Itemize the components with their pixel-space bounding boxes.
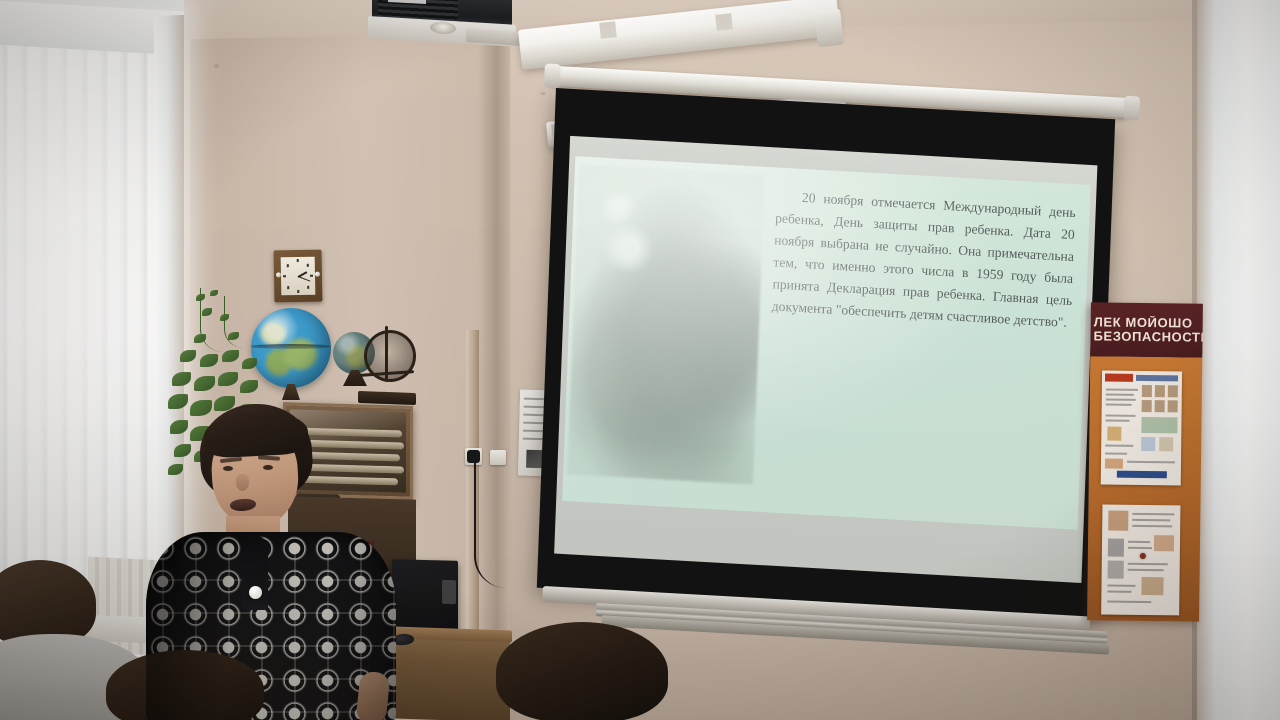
roller-cap-right [1123, 96, 1140, 121]
presenter [130, 404, 400, 720]
wall-mark [540, 92, 546, 95]
board-header: ЛЕК МОЙОШО БЕЗОПАСНОСТИ [1090, 302, 1203, 357]
wall-corner [478, 0, 512, 720]
screen-surface: 20 ноября отмечается Международный день … [554, 136, 1097, 583]
presenter-nose [236, 474, 249, 491]
wall-mark [214, 64, 219, 68]
classroom-scene: 20 ноября отмечается Международный день … [0, 0, 1280, 720]
screen-border: 20 ноября отмечается Международный день … [537, 88, 1115, 619]
board-sheet [1101, 504, 1180, 615]
safety-information-board: ЛЕК МОЙОШО БЕЗОПАСНОСТИ [1087, 302, 1203, 621]
board-header-line2: БЕЗОПАСНОСТИ [1093, 329, 1202, 344]
roller-cap-left [544, 63, 561, 88]
right-window-wall [1196, 0, 1280, 720]
student-hair [496, 622, 668, 720]
presenter-eye [263, 465, 273, 470]
slide-content: 20 ноября отмечается Международный день … [562, 156, 1091, 530]
speaker-port [442, 580, 456, 604]
slide-body-text: 20 ноября отмечается Международный день … [771, 185, 1076, 334]
lamp-bracket [715, 13, 733, 31]
projection-screen: 20 ноября отмечается Международный день … [535, 88, 1118, 679]
power-cable [474, 462, 506, 588]
orrery-base [358, 391, 416, 405]
presenter-eye [223, 466, 233, 471]
slide-photo [567, 164, 765, 484]
presenter-blouse [146, 532, 396, 720]
clock-hand-minute [298, 276, 311, 282]
lamp-bracket [599, 21, 617, 39]
board-pin [1140, 553, 1146, 559]
board-sheet [1101, 370, 1182, 485]
board-header-line1: ЛЕК МОЙОШО [1094, 316, 1203, 331]
clock-screw [315, 272, 320, 277]
ceiling-lamp-upper-end [814, 9, 844, 48]
board-body [1087, 356, 1202, 621]
student-bottom [496, 622, 686, 720]
clock-screw [276, 272, 281, 277]
